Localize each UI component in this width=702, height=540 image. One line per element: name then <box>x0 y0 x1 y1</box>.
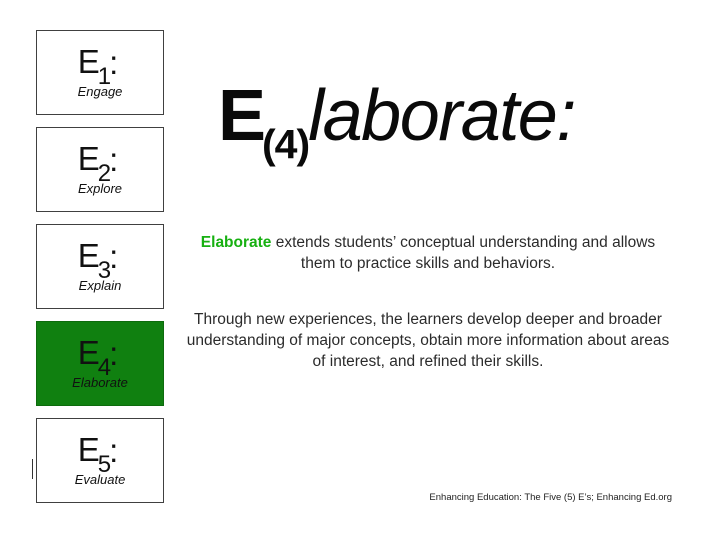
step-box-engage[interactable]: E1: Engage <box>36 30 164 115</box>
body-paragraph-2: Through new experiences, the learners de… <box>180 310 676 373</box>
step-label-engage: E1: <box>37 45 163 78</box>
step-letter: E <box>78 334 100 371</box>
slide-canvas: E1: Engage E2: Explore E3: Explain E4: E… <box>0 0 702 540</box>
step-letter: E <box>78 43 100 80</box>
five-e-step-list: E1: Engage E2: Explore E3: Explain E4: E… <box>36 30 164 515</box>
body-paragraph-1-text: extends students’ conceptual understandi… <box>271 234 655 272</box>
step-box-evaluate[interactable]: E5: Evaluate <box>36 418 164 503</box>
step-box-explore[interactable]: E2: Explore <box>36 127 164 212</box>
step-name-evaluate: Evaluate <box>37 473 163 486</box>
step-box-elaborate[interactable]: E4: Elaborate <box>36 321 164 406</box>
step-label-elaborate: E4: <box>37 336 163 369</box>
body-paragraph-1: Elaborate extends students’ conceptual u… <box>186 233 670 275</box>
step-colon: : <box>109 238 118 275</box>
step-colon: : <box>109 335 118 372</box>
text-cursor-caret <box>32 459 33 479</box>
step-colon: : <box>109 141 118 178</box>
step-label-explain: E3: <box>37 239 163 272</box>
step-name-elaborate: Elaborate <box>37 376 163 389</box>
title-remainder: laborate: <box>308 76 575 156</box>
step-label-evaluate: E5: <box>37 433 163 466</box>
page-title: E(4)laborate: <box>218 80 579 152</box>
title-subscript: (4) <box>262 121 309 167</box>
step-name-explore: Explore <box>37 182 163 195</box>
step-letter: E <box>78 140 100 177</box>
step-letter: E <box>78 237 100 274</box>
step-label-explore: E2: <box>37 142 163 175</box>
source-citation: Enhancing Education: The Five (5) E’s; E… <box>300 492 672 503</box>
step-colon: : <box>109 44 118 81</box>
step-name-engage: Engage <box>37 85 163 98</box>
step-name-explain: Explain <box>37 279 163 292</box>
step-colon: : <box>109 432 118 469</box>
title-letter: E <box>218 76 265 156</box>
step-box-explain[interactable]: E3: Explain <box>36 224 164 309</box>
keyword-elaborate: Elaborate <box>201 234 272 251</box>
step-letter: E <box>78 431 100 468</box>
